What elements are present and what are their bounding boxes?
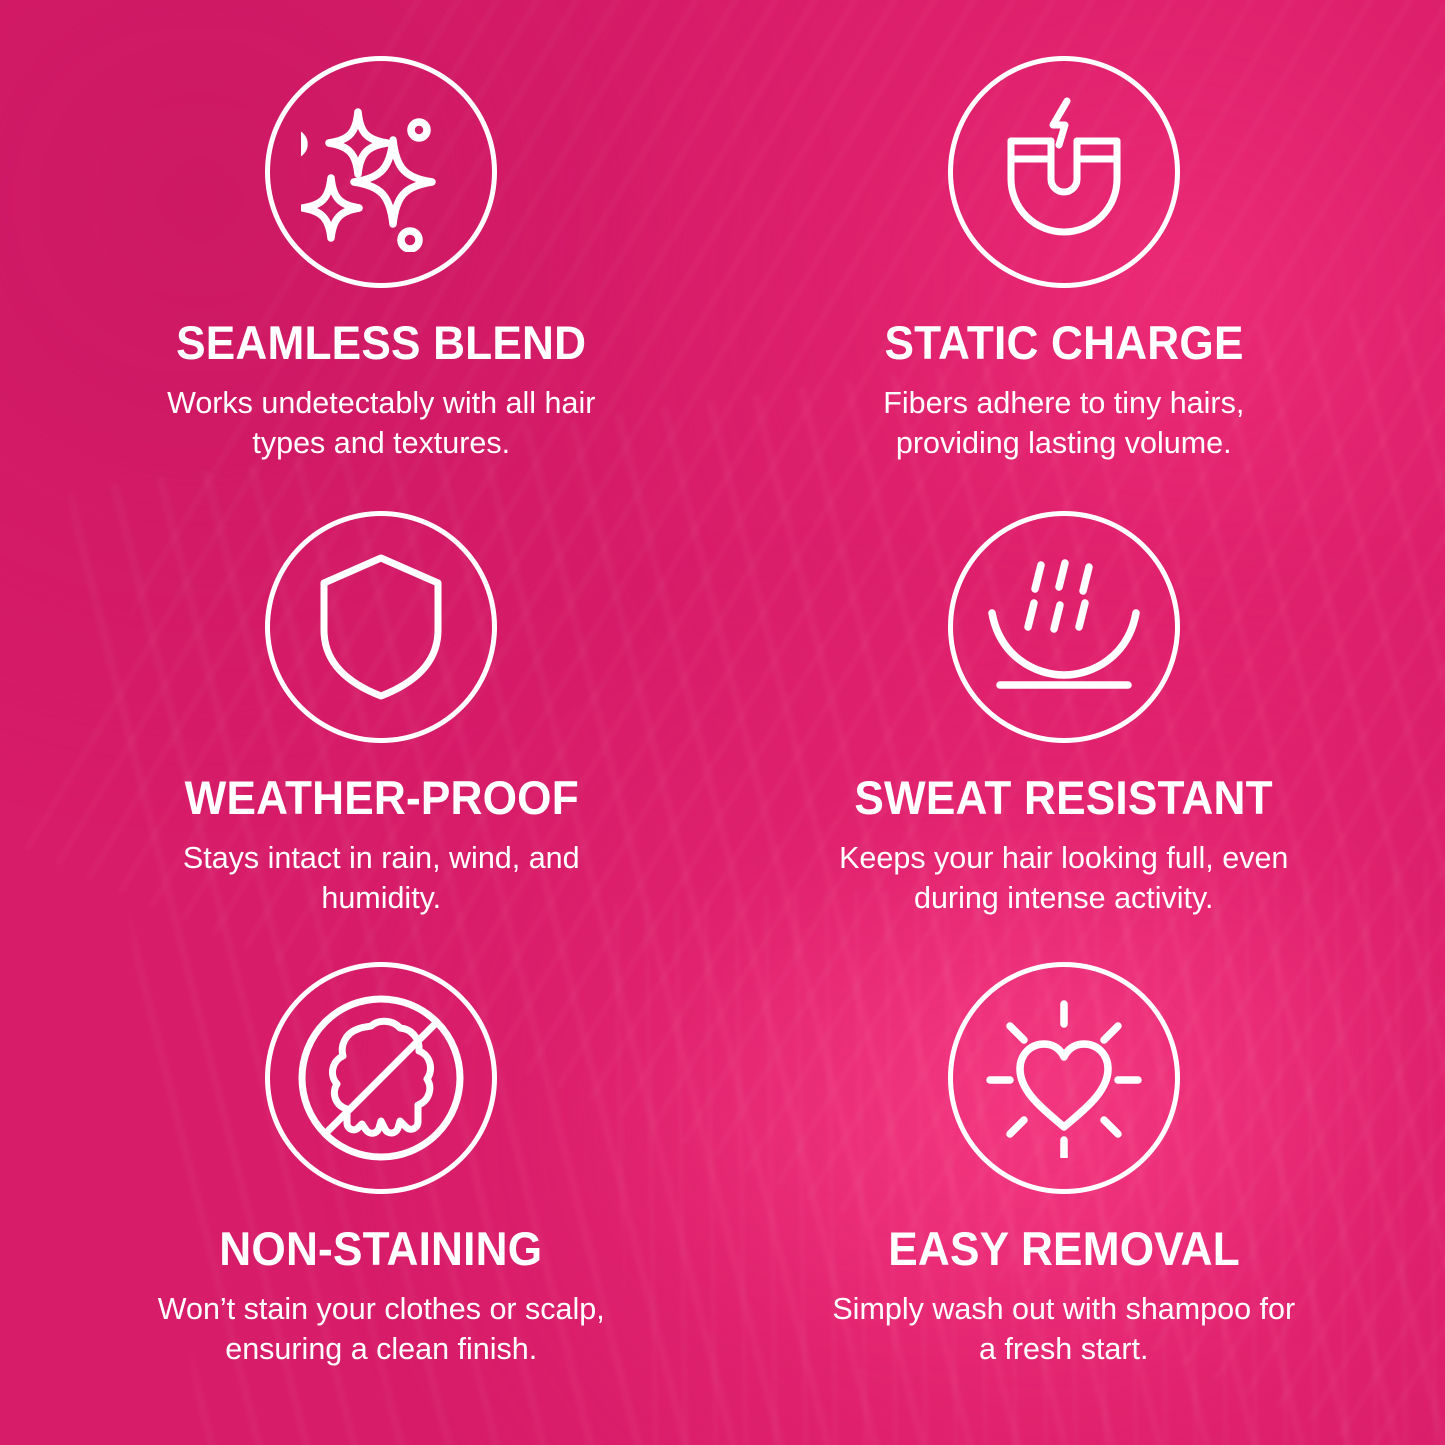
- feature-description: Fibers adhere to tiny hairs, providing l…: [829, 384, 1299, 463]
- shield-icon: [265, 511, 497, 743]
- feature-description: Stays intact in rain, wind, and humidity…: [146, 839, 616, 918]
- feature-card-sweat-resistant: SWEAT RESISTANT Keeps your hair looking …: [723, 503, 1406, 950]
- feature-card-seamless-blend: SEAMLESS BLEND Works undetectably with a…: [40, 56, 723, 503]
- feature-card-static-charge: STATIC CHARGE Fibers adhere to tiny hair…: [723, 56, 1406, 503]
- no-stain-icon: [265, 962, 497, 1194]
- sparkles-icon: [265, 56, 497, 288]
- feature-title: EASY REMOVAL: [888, 1225, 1240, 1274]
- feature-title: SEAMLESS BLEND: [176, 319, 586, 368]
- water-repellent-icon: [948, 511, 1180, 743]
- feature-description: Simply wash out with shampoo for a fresh…: [829, 1290, 1299, 1369]
- feature-grid: SEAMLESS BLEND Works undetectably with a…: [0, 0, 1445, 1445]
- feature-poster: SEAMLESS BLEND Works undetectably with a…: [0, 0, 1445, 1445]
- feature-description: Won’t stain your clothes or scalp, ensur…: [146, 1290, 616, 1369]
- feature-title: SWEAT RESISTANT: [855, 774, 1273, 823]
- feature-description: Keeps your hair looking full, even durin…: [829, 839, 1299, 918]
- heart-rays-icon: [948, 962, 1180, 1194]
- feature-title: STATIC CHARGE: [884, 319, 1243, 368]
- feature-card-easy-removal: EASY REMOVAL Simply wash out with shampo…: [723, 950, 1406, 1397]
- feature-card-weather-proof: WEATHER-PROOF Stays intact in rain, wind…: [40, 503, 723, 950]
- magnet-lightning-icon: [948, 56, 1180, 288]
- feature-title: WEATHER-PROOF: [184, 774, 578, 823]
- feature-title: NON-STAINING: [220, 1225, 543, 1274]
- feature-card-non-staining: NON-STAINING Won’t stain your clothes or…: [40, 950, 723, 1397]
- feature-description: Works undetectably with all hair types a…: [146, 384, 616, 463]
